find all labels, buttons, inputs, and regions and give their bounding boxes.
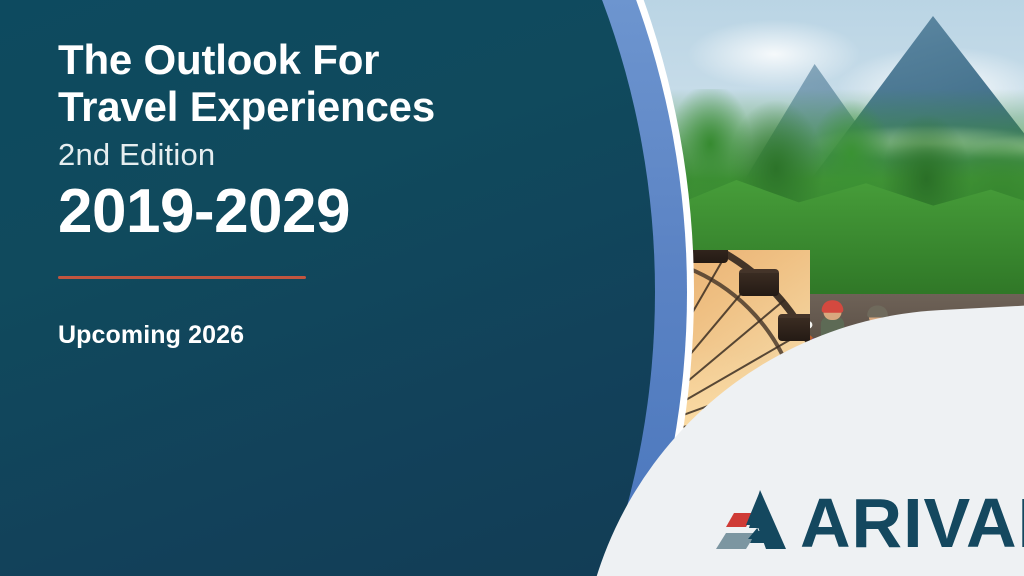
page-title: The Outlook For Travel Experiences xyxy=(58,36,578,130)
year-range: 2019-2029 xyxy=(58,179,578,246)
accent-divider xyxy=(58,276,306,279)
wheel-cabin xyxy=(778,314,810,341)
edition-label: 2nd Edition xyxy=(58,136,578,175)
arival-logo[interactable]: ARIVAL xyxy=(716,487,1024,559)
title-line-2: Travel Experiences xyxy=(58,83,578,130)
title-line-1: The Outlook For xyxy=(58,36,578,83)
arival-wordmark: ARIVAL xyxy=(800,488,1024,558)
presentation-slide: The Outlook For Travel Experiences 2nd E… xyxy=(0,0,1024,576)
title-block: The Outlook For Travel Experiences 2nd E… xyxy=(58,36,578,350)
wheel-cabin xyxy=(688,250,728,263)
upcoming-label: Upcoming 2026 xyxy=(58,321,578,350)
arival-a-mark xyxy=(716,487,794,559)
wheel-cabin xyxy=(739,269,779,296)
